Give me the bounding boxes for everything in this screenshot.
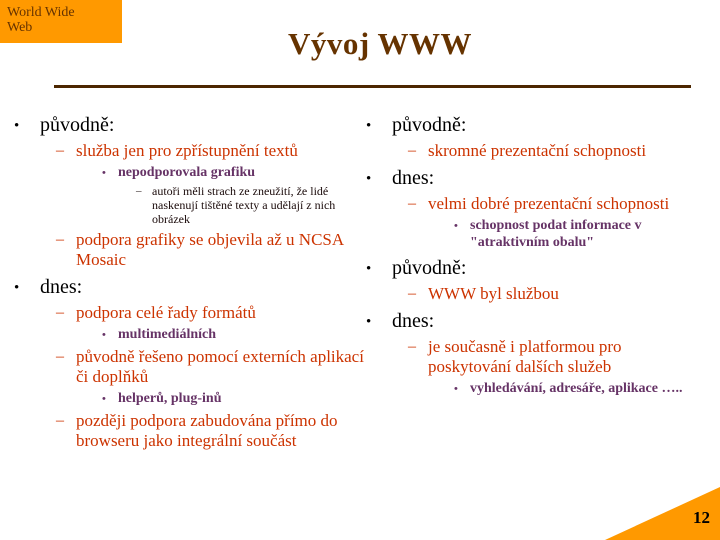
bullet-marker-icon: • (366, 114, 384, 138)
bullet-item-level3: •multimediálních (14, 326, 364, 343)
bullet-marker-icon: • (366, 310, 384, 334)
bullet-item-level2: –je současně i platformou pro poskytován… (366, 337, 706, 377)
www-badge: World Wide Web (0, 0, 122, 43)
bullet-marker-icon: – (408, 194, 424, 214)
bullet-item-level3: •nepodporovala grafiku (14, 164, 364, 181)
bullet-marker-icon: • (366, 167, 384, 191)
bullet-item-label: dnes: (392, 166, 706, 190)
bullet-item-level2: –velmi dobré prezentační schopnosti (366, 194, 706, 214)
bullet-item-label: služba jen pro zpřístupnění textů (76, 141, 364, 161)
bullet-item-label: později podpora zabudována přímo do brow… (76, 411, 364, 451)
bullet-marker-icon: • (454, 218, 468, 235)
bullet-marker-icon: – (56, 411, 72, 431)
bullet-item-level2: –WWW byl službou (366, 284, 706, 304)
bullet-marker-icon: – (56, 230, 72, 250)
bullet-item-level2: –později podpora zabudována přímo do bro… (14, 411, 364, 451)
bullet-marker-icon: – (56, 141, 72, 161)
bullet-item-label: schopnost podat informace v "atraktivním… (470, 217, 706, 251)
bullet-marker-icon: – (408, 284, 424, 304)
bullet-item-label: autoři měli strach ze zneužití, že lidé … (152, 184, 364, 226)
bullet-item-level1: •původně: (14, 113, 364, 137)
bullet-item-label: dnes: (40, 275, 364, 299)
bullet-marker-icon: • (454, 381, 468, 398)
bullet-item-label: původně řešeno pomocí externích aplikací… (76, 347, 364, 387)
bullet-item-label: WWW byl službou (428, 284, 706, 304)
bullet-marker-icon: • (14, 114, 32, 138)
bullet-item-label: skromné prezentační schopnosti (428, 141, 706, 161)
bullet-item-level1: •dnes: (366, 309, 706, 333)
page-title: Vývoj WWW (140, 26, 620, 62)
bullet-marker-icon: • (366, 257, 384, 281)
bullet-item-label: velmi dobré prezentační schopnosti (428, 194, 706, 214)
bullet-marker-icon: • (102, 391, 116, 408)
bullet-item-level2: –podpora grafiky se objevila až u NCSA M… (14, 230, 364, 270)
bullet-item-label: vyhledávání, adresáře, aplikace ….. (470, 380, 706, 397)
bullet-item-label: podpora celé řady formátů (76, 303, 364, 323)
bullet-item-label: helperů, plug-inů (118, 390, 364, 407)
bullet-item-level3: •helperů, plug-inů (14, 390, 364, 407)
title-divider (54, 85, 691, 88)
content-column-left: •původně:–služba jen pro zpřístupnění te… (14, 108, 364, 454)
bullet-item-label: původně: (40, 113, 364, 137)
bullet-marker-icon: • (102, 165, 116, 182)
bullet-marker-icon: – (136, 184, 150, 198)
bullet-item-label: nepodporovala grafiku (118, 164, 364, 181)
bullet-item-level2: –služba jen pro zpřístupnění textů (14, 141, 364, 161)
page-number: 12 (693, 508, 710, 528)
bullet-item-level3: •vyhledávání, adresáře, aplikace ….. (366, 380, 706, 397)
bullet-item-label: původně: (392, 256, 706, 280)
bullet-item-label: podpora grafiky se objevila až u NCSA Mo… (76, 230, 364, 270)
bullet-item-level1: •dnes: (14, 275, 364, 299)
bullet-item-level2: –původně řešeno pomocí externích aplikac… (14, 347, 364, 387)
bullet-item-label: původně: (392, 113, 706, 137)
bullet-marker-icon: • (102, 327, 116, 344)
bullet-item-level1: •původně: (366, 256, 706, 280)
bullet-item-label: je současně i platformou pro poskytování… (428, 337, 706, 377)
bullet-item-level2: –podpora celé řady formátů (14, 303, 364, 323)
bullet-item-level3: •schopnost podat informace v "atraktivní… (366, 217, 706, 251)
bullet-item-level1: •dnes: (366, 166, 706, 190)
bullet-item-level4: –autoři měli strach ze zneužití, že lidé… (14, 184, 364, 226)
bullet-item-level1: •původně: (366, 113, 706, 137)
bullet-marker-icon: – (56, 347, 72, 367)
bullet-item-label: dnes: (392, 309, 706, 333)
content-column-right: •původně:–skromné prezentační schopnosti… (366, 108, 706, 400)
bullet-marker-icon: • (14, 276, 32, 300)
bullet-marker-icon: – (56, 303, 72, 323)
bullet-item-label: multimediálních (118, 326, 364, 343)
bullet-marker-icon: – (408, 141, 424, 161)
bullet-item-level2: –skromné prezentační schopnosti (366, 141, 706, 161)
bullet-marker-icon: – (408, 337, 424, 357)
